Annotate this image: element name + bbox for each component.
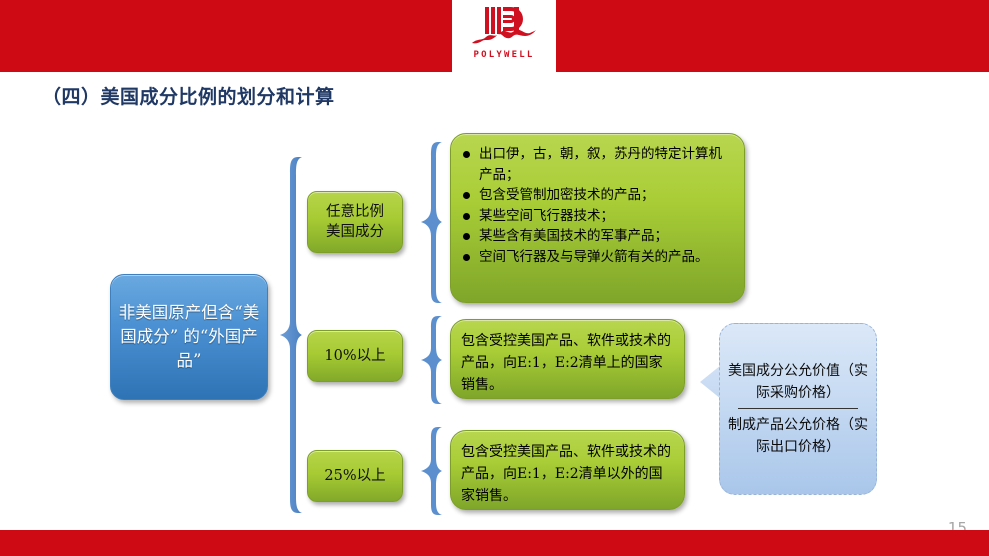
branch-content-0: 出口伊，古，朝，叙，苏丹的特定计算机产品； 包含受管制加密技术的产品； 某些空间… xyxy=(450,133,745,303)
fraction-bar xyxy=(738,408,858,409)
polywell-p-logo-icon xyxy=(469,3,539,51)
list-item: 某些空间飞行器技术； xyxy=(461,206,732,227)
branch-content-2: 包含受控美国产品、软件或技术的产品，向E:1，E:2清单以外的国家销售。 xyxy=(450,430,685,510)
main-brace-icon xyxy=(278,155,304,515)
branch-label-0-text: 任意比例美国成分 xyxy=(326,202,384,242)
list-item: 包含受管制加密技术的产品； xyxy=(461,185,732,206)
list-item: 空间飞行器及与导弹火箭有关的产品。 xyxy=(461,247,732,268)
branch-brace-0-icon xyxy=(420,140,444,305)
branch-brace-1-icon xyxy=(420,314,444,406)
footer-red-bar xyxy=(0,530,989,556)
branch-label-1: 10%以上 xyxy=(307,330,403,382)
list-item: 某些含有美国技术的军事产品； xyxy=(461,226,732,247)
branch-brace-2-icon xyxy=(420,425,444,517)
branch-content-2-text: 包含受控美国产品、软件或技术的产品，向E:1，E:2清单以外的国家销售。 xyxy=(461,441,672,507)
formula-callout: 美国成分公允价值（实际采购价格） 制成产品公允价格（实际出口价格） xyxy=(700,323,877,495)
brand-logo: POLYWELL xyxy=(452,0,556,72)
source-node-label: 非美国原产但含“美国成分” 的“外国产品” xyxy=(117,301,261,373)
list-item: 出口伊，古，朝，叙，苏丹的特定计算机产品； xyxy=(461,144,732,185)
branch-content-1: 包含受控美国产品、软件或技术的产品，向E:1，E:2清单上的国家销售。 xyxy=(450,319,685,399)
formula-denominator: 制成产品公允价格（实际出口价格） xyxy=(726,414,870,458)
branch-label-0: 任意比例美国成分 xyxy=(307,191,403,253)
callout-body: 美国成分公允价值（实际采购价格） 制成产品公允价格（实际出口价格） xyxy=(719,323,877,495)
branch-label-1-text: 10%以上 xyxy=(324,346,385,366)
source-node: 非美国原产但含“美国成分” 的“外国产品” xyxy=(110,274,268,400)
branch-label-2: 25%以上 xyxy=(307,450,403,502)
brand-name: POLYWELL xyxy=(474,50,535,60)
page-title: （四）美国成分比例的划分和计算 xyxy=(42,82,335,109)
branch-content-1-text: 包含受控美国产品、软件或技术的产品，向E:1，E:2清单上的国家销售。 xyxy=(461,330,672,396)
slide-canvas: POLYWELL （四）美国成分比例的划分和计算 非美国原产但含“美国成分” 的… xyxy=(0,0,989,556)
formula-numerator: 美国成分公允价值（实际采购价格） xyxy=(726,360,870,404)
bullet-list-0: 出口伊，古，朝，叙，苏丹的特定计算机产品； 包含受管制加密技术的产品； 某些空间… xyxy=(461,144,732,267)
branch-label-2-text: 25%以上 xyxy=(324,466,385,486)
